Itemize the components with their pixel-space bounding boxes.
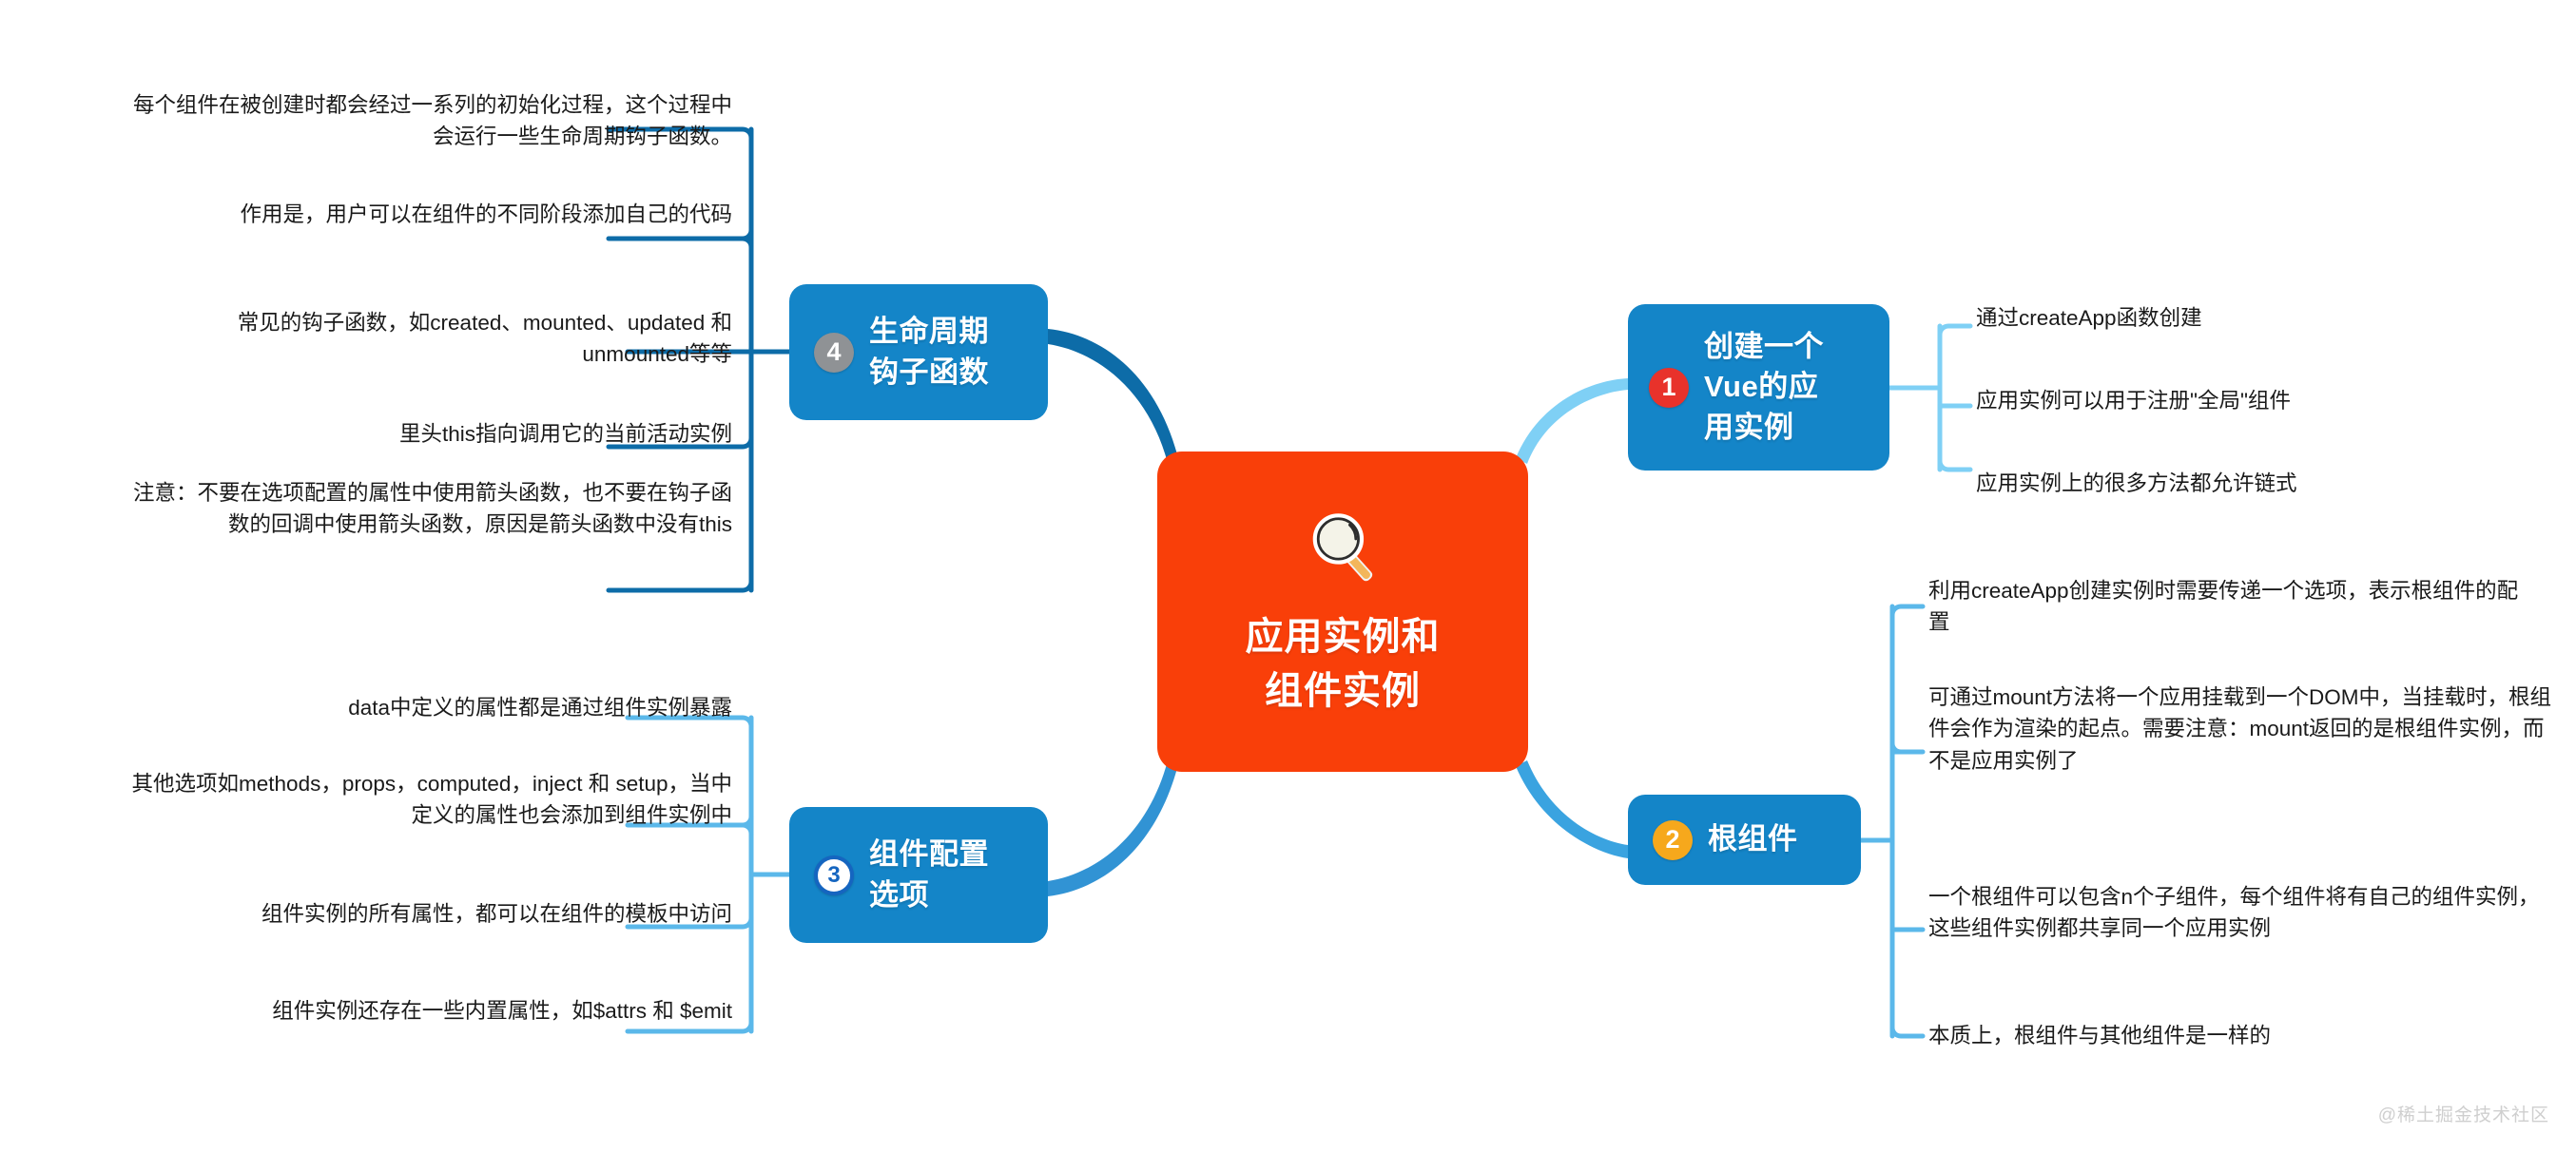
branch-title-line2-4: 钩子函数 xyxy=(869,353,989,393)
leaf-text: 注意：不要在选项配置的属性中使用箭头函数，也不要在钩子函数的回调中使用箭头函数，… xyxy=(114,477,732,541)
branch-node-component-options[interactable]: 3 组件配置 选项 xyxy=(789,807,1048,943)
branch-title-line2-3: 选项 xyxy=(869,875,989,915)
magnifying-glass-icon xyxy=(1299,506,1386,593)
leaf-text: 本质上，根组件与其他组件是一样的 xyxy=(1928,1020,2537,1051)
branch-title-line1-2: 根组件 xyxy=(1708,819,1798,859)
leaf-text: 每个组件在被创建时都会经过一系列的初始化过程，这个过程中会运行一些生命周期钩子函… xyxy=(124,89,732,153)
branch-title-line1-4: 生命周期 xyxy=(869,312,989,352)
leaf-text: 一个根组件可以包含n个子组件，每个组件将有自己的组件实例，这些组件实例都共享同一… xyxy=(1928,881,2551,945)
leaf-text: 组件实例还存在一些内置属性，如$attrs 和 $emit xyxy=(95,995,732,1027)
watermark: @稀土掘金技术社区 xyxy=(2378,1101,2549,1126)
leaf-text: 里头this指向调用它的当前活动实例 xyxy=(219,418,732,450)
leaf-text: 通过createApp函数创建 xyxy=(1976,302,2547,334)
link-center-to-branch-2 xyxy=(1516,760,1628,858)
branch-node-title-1: 创建一个 Vue的应 用实例 xyxy=(1704,327,1824,447)
branch-node-title-3: 组件配置 选项 xyxy=(869,835,989,914)
branch-title-line2-1: Vue的应 xyxy=(1704,367,1824,407)
branch-node-title-2: 根组件 xyxy=(1708,819,1798,859)
leaf-text: 组件实例的所有属性，都可以在组件的模板中访问 xyxy=(171,898,732,930)
branch-number-badge-4: 4 xyxy=(814,333,854,373)
central-node-title: 应用实例和 组件实例 xyxy=(1246,610,1441,719)
leaf-text: 应用实例可以用于注册"全局"组件 xyxy=(1976,385,2547,416)
branch-title-line1-1: 创建一个 xyxy=(1704,327,1824,367)
leaf-text: 可通过mount方法将一个应用挂载到一个DOM中，当挂载时，根组件会作为渲染的起… xyxy=(1928,682,2556,777)
link-center-to-branch-3 xyxy=(1048,760,1177,896)
branch-node-create-vue-app[interactable]: 1 创建一个 Vue的应 用实例 xyxy=(1628,304,1889,471)
branch-title-line3-1: 用实例 xyxy=(1704,408,1824,448)
bracket-branch-1 xyxy=(1889,326,1970,470)
branch-node-title-4: 生命周期 钩子函数 xyxy=(869,312,989,392)
link-center-to-branch-4 xyxy=(1048,329,1177,463)
central-node[interactable]: 应用实例和 组件实例 xyxy=(1157,452,1528,772)
leaf-text: 作用是，用户可以在组件的不同阶段添加自己的代码 xyxy=(124,199,732,230)
bracket-branch-2 xyxy=(1861,606,1923,1036)
branch-title-line1-3: 组件配置 xyxy=(869,835,989,874)
leaf-text: 其他选项如methods，props，computed，inject 和 set… xyxy=(124,768,732,832)
mindmap-canvas: 应用实例和 组件实例 4 生命周期 钩子函数 每个组件在被创建时都会经过一系列的… xyxy=(0,0,2576,1153)
central-node-title-line2: 组件实例 xyxy=(1246,664,1441,719)
bracket-branch-3 xyxy=(628,718,789,1031)
leaf-text: 常见的钩子函数，如created、mounted、updated 和 unmou… xyxy=(166,307,732,371)
leaf-text: 应用实例上的很多方法都允许链式 xyxy=(1976,468,2547,499)
branch-number-badge-1: 1 xyxy=(1649,368,1689,408)
branch-node-lifecycle-hooks[interactable]: 4 生命周期 钩子函数 xyxy=(789,284,1048,420)
branch-number-badge-3: 3 xyxy=(814,855,854,895)
central-node-title-line1: 应用实例和 xyxy=(1246,610,1441,664)
branch-node-root-component[interactable]: 2 根组件 xyxy=(1628,795,1861,885)
branch-number-badge-2: 2 xyxy=(1653,820,1693,860)
leaf-text: 利用createApp创建实例时需要传递一个选项，表示根组件的配置 xyxy=(1928,575,2537,639)
leaf-text: data中定义的属性都是通过组件实例暴露 xyxy=(171,692,732,723)
link-center-to-branch-1 xyxy=(1516,378,1628,464)
